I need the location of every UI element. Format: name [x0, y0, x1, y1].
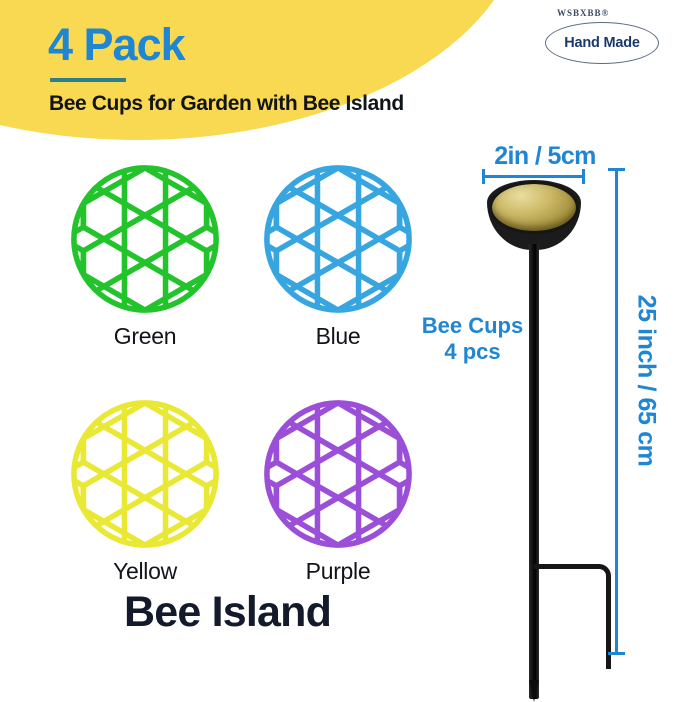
- bee-cups-callout-line2: 4 pcs: [410, 339, 535, 365]
- page-subtitle: Bee Cups for Garden with Bee Island: [49, 92, 404, 116]
- swatch-item-yellow[interactable]: Yellow: [55, 395, 255, 615]
- brand-badge: WSBXBB® Hand Made: [537, 6, 667, 68]
- height-dimension-line: [615, 168, 618, 655]
- honeycomb-disc-icon: [259, 160, 417, 318]
- page-title: 4 Pack: [48, 22, 185, 67]
- brand-mark-text: WSBXBB®: [557, 8, 609, 18]
- height-dimension: 25 inch / 65 cm: [605, 168, 675, 671]
- honeycomb-disc-icon: [66, 160, 224, 318]
- title-divider: [50, 78, 126, 82]
- hand-made-label: Hand Made: [564, 35, 640, 51]
- height-dimension-label: 25 inch / 65 cm: [632, 256, 661, 506]
- honeycomb-disc-icon: [66, 395, 224, 553]
- footer-brand-title: Bee Island: [0, 588, 455, 637]
- diameter-dimension-label: 2in / 5cm: [470, 142, 620, 171]
- color-swatch-grid: Green Blue Yellow Purple: [0, 150, 440, 590]
- swatch-item-green[interactable]: Green: [55, 160, 255, 380]
- swatch-label: Yellow: [55, 558, 235, 585]
- honeycomb-disc-icon: [259, 395, 417, 553]
- bee-cups-callout: Bee Cups 4 pcs: [410, 313, 535, 364]
- cup-bowl-rim: [489, 181, 579, 234]
- swatch-label: Purple: [248, 558, 428, 585]
- swatch-label: Blue: [248, 323, 428, 350]
- stake-side-bracket: [534, 564, 611, 669]
- hand-made-oval-icon: Hand Made: [545, 22, 659, 64]
- swatch-label: Green: [55, 323, 235, 350]
- stake-ground-tip: [529, 680, 539, 702]
- cup-bowl-icon: [487, 180, 581, 250]
- swatch-item-purple[interactable]: Purple: [248, 395, 448, 615]
- product-infographic: 4 Pack Bee Cups for Garden with Bee Isla…: [0, 0, 679, 671]
- bee-cups-callout-line1: Bee Cups: [410, 313, 535, 339]
- diameter-dimension-line: [482, 175, 585, 178]
